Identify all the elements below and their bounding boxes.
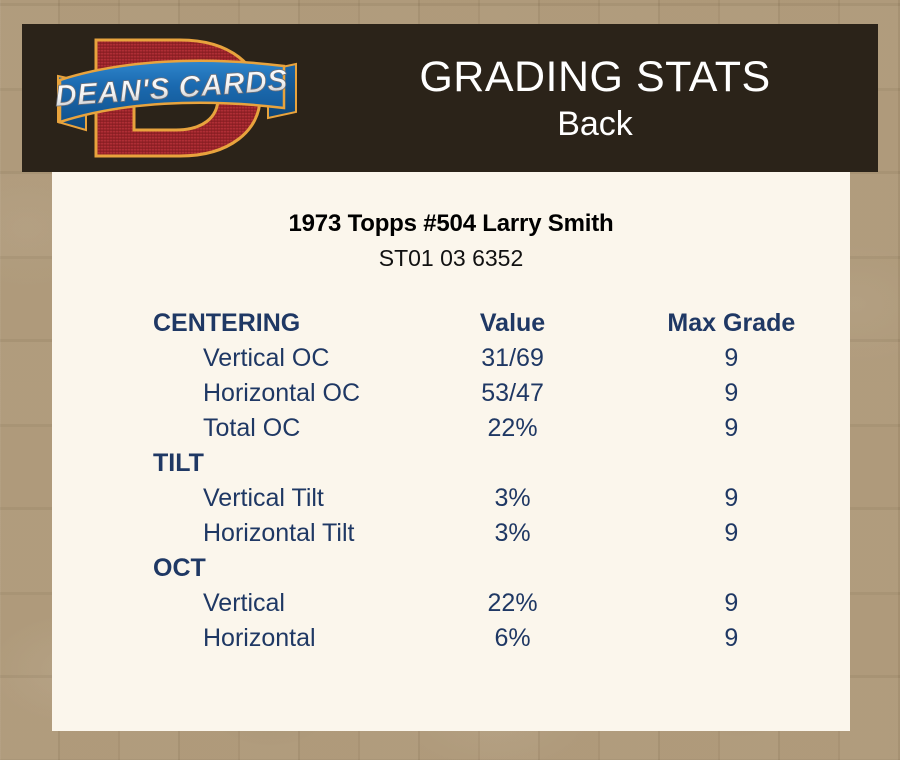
table-row: Horizontal6%9 [52, 621, 850, 656]
row-value: 22% [412, 586, 612, 621]
table-row: Vertical Tilt3%9 [52, 481, 850, 516]
row-label: Horizontal [52, 621, 412, 656]
card-serial-number: ST01 03 6352 [52, 245, 850, 272]
table-row: Horizontal Tilt3%9 [52, 516, 850, 551]
card-title: 1973 Topps #504 Larry Smith [52, 210, 850, 238]
row-max-grade: 9 [613, 481, 850, 516]
row-max-grade: 9 [613, 341, 850, 376]
row-value: 31/69 [412, 341, 612, 376]
content-panel: 1973 Topps #504 Larry Smith ST01 03 6352… [52, 172, 850, 731]
row-max-grade: 9 [613, 586, 850, 621]
row-value: 6% [412, 621, 612, 656]
row-max-grade: 9 [613, 376, 850, 411]
section-label: OCT [52, 551, 850, 586]
row-label: Vertical OC [52, 341, 412, 376]
page-subtitle: Back [557, 104, 633, 145]
column-header-centering: CENTERING [52, 306, 412, 341]
section-label: TILT [52, 446, 850, 481]
table-head: CENTERING Value Max Grade [52, 306, 850, 341]
row-label: Vertical Tilt [52, 481, 412, 516]
row-label: Total OC [52, 411, 412, 446]
row-value: 53/47 [412, 376, 612, 411]
row-max-grade: 9 [613, 621, 850, 656]
row-max-grade: 9 [613, 516, 850, 551]
table-row: Vertical OC31/699 [52, 341, 850, 376]
page-title: GRADING STATS [419, 55, 770, 100]
deans-cards-logo: DEAN'S CARDS [52, 26, 302, 170]
header-bar: DEAN'S CARDS GRADING STATS Back [22, 24, 878, 172]
row-value: 22% [412, 411, 612, 446]
row-max-grade: 9 [613, 411, 850, 446]
row-label: Vertical [52, 586, 412, 621]
table-header-row: CENTERING Value Max Grade [52, 306, 850, 341]
section-row-oct: OCT [52, 551, 850, 586]
table-body: Vertical OC31/699Horizontal OC53/479Tota… [52, 341, 850, 656]
row-value: 3% [412, 516, 612, 551]
row-value: 3% [412, 481, 612, 516]
section-row-tilt: TILT [52, 446, 850, 481]
table-row: Vertical22%9 [52, 586, 850, 621]
table-row: Total OC22%9 [52, 411, 850, 446]
row-label: Horizontal OC [52, 376, 412, 411]
grading-stats-table: CENTERING Value Max Grade Vertical OC31/… [52, 306, 850, 656]
row-label: Horizontal Tilt [52, 516, 412, 551]
table-row: Horizontal OC53/479 [52, 376, 850, 411]
column-header-value: Value [412, 306, 612, 341]
column-header-max-grade: Max Grade [613, 306, 850, 341]
header-titles: GRADING STATS Back [312, 24, 878, 172]
